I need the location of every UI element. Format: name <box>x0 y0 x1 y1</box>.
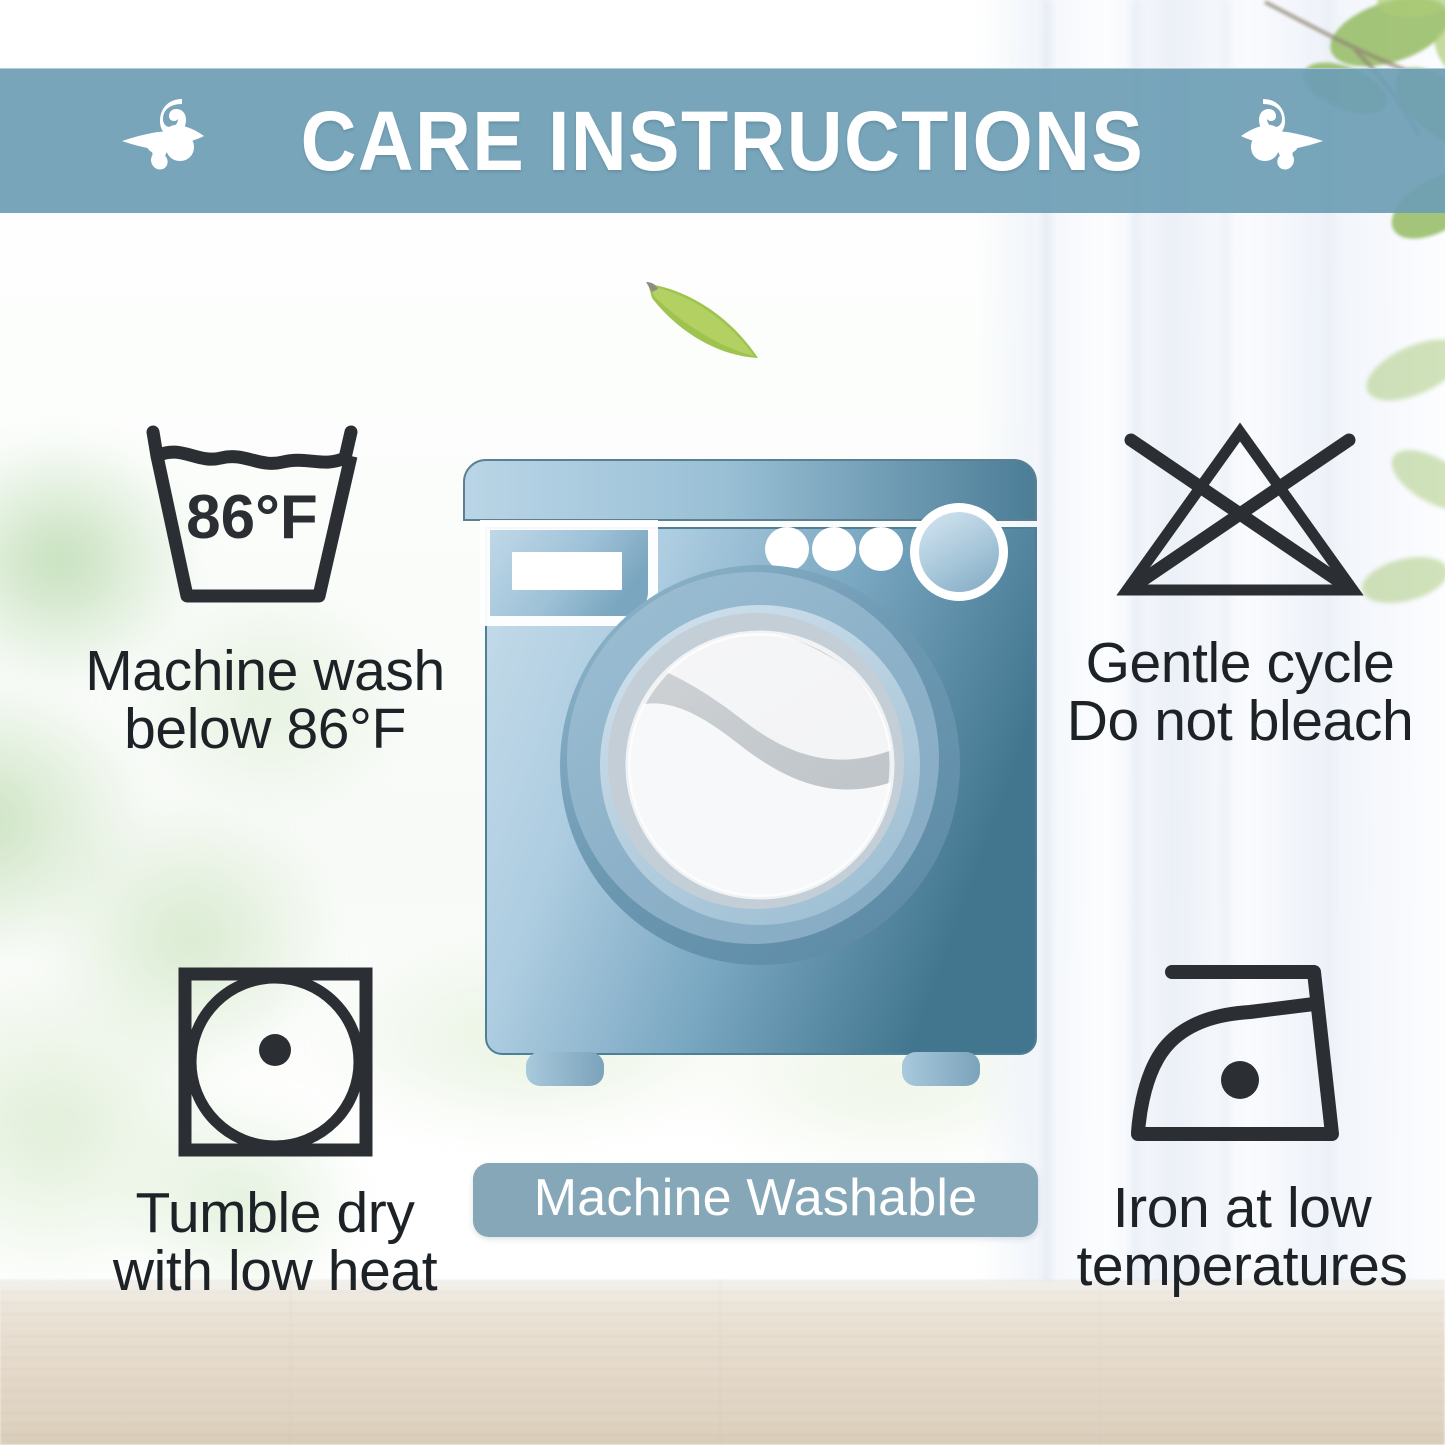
symbol-block-do-not-bleach: Gentle cycle Do not bleach <box>1030 418 1445 750</box>
background-wood-grain <box>0 1280 1445 1445</box>
detergent-drawer-handle[interactable] <box>512 552 622 590</box>
washer-foot-right <box>902 1052 980 1086</box>
fleur-de-lis-icon <box>1215 91 1335 191</box>
crossed-triangle-icon <box>1109 418 1371 608</box>
symbol-block-tumble-dry: Tumble dry with low heat <box>55 962 495 1300</box>
indicator-dot-3 <box>859 527 903 571</box>
leaf-icon <box>640 272 770 367</box>
tumble-dry-heat-dot <box>259 1034 291 1066</box>
washing-machine-illustration <box>440 420 1060 1160</box>
symbol-block-machine-wash: 86°F Machine wash below 86°F <box>30 418 500 758</box>
iron-heat-dot <box>1221 1061 1259 1099</box>
header-banner: CARE INSTRUCTIONS <box>0 68 1445 213</box>
caption-tumble-dry: Tumble dry with low heat <box>113 1184 437 1300</box>
care-instructions-infographic: CARE INSTRUCTIONS 86°F Machine wash belo… <box>0 0 1445 1445</box>
iron-icon <box>1122 962 1362 1157</box>
indicator-dot-2 <box>812 527 856 571</box>
badge-label: Machine Washable <box>534 1172 978 1228</box>
machine-washable-badge: Machine Washable <box>473 1163 1038 1237</box>
power-knob[interactable] <box>919 512 999 592</box>
wash-tub-icon: 86°F <box>135 418 395 618</box>
caption-do-not-bleach: Gentle cycle Do not bleach <box>1067 634 1414 750</box>
tumble-dry-icon <box>173 962 378 1162</box>
washer-foot-left <box>526 1052 604 1086</box>
caption-iron: Iron at low temperatures <box>1076 1179 1407 1295</box>
caption-machine-wash: Machine wash below 86°F <box>85 642 445 758</box>
indicator-dot-1 <box>765 527 809 571</box>
symbol-block-iron: Iron at low temperatures <box>1022 962 1445 1295</box>
wash-temperature-value: 86°F <box>186 483 318 552</box>
fleur-de-lis-icon <box>110 91 230 191</box>
page-title: CARE INSTRUCTIONS <box>301 99 1145 183</box>
